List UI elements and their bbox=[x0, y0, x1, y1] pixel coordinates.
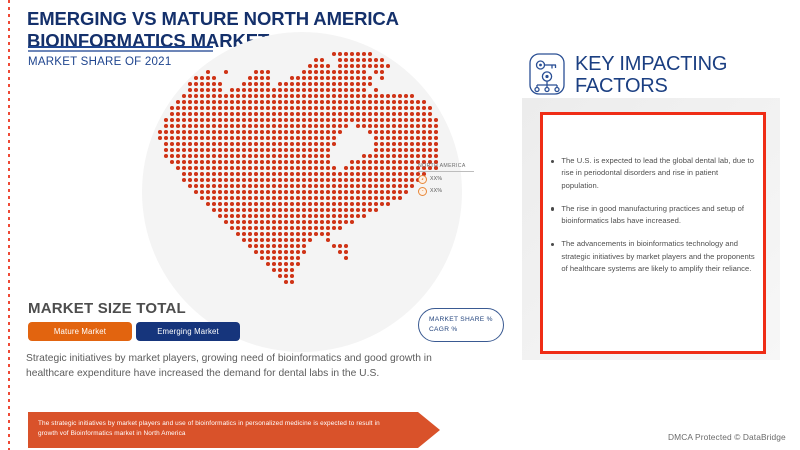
kif-title-line-1: KEY IMPACTING bbox=[575, 53, 727, 75]
pill-line-cagr: CAGR % bbox=[429, 325, 503, 335]
bullet-dot-icon bbox=[551, 207, 554, 210]
key-factors-bullet-list: The U.S. is expected to lead the global … bbox=[551, 155, 757, 286]
list-item: The advancements in bioinformatics techn… bbox=[551, 238, 757, 275]
map-legend: NORTH AMERICA ◕ XX% ◔ XX% bbox=[418, 163, 498, 196]
legend-row: ◕ XX% bbox=[418, 175, 498, 184]
market-share-icon: ◕ bbox=[418, 175, 427, 184]
emerging-market-button[interactable]: Emerging Market bbox=[136, 322, 240, 341]
summary-paragraph: Strategic initiatives by market players,… bbox=[26, 351, 482, 381]
list-item-text: The advancements in bioinformatics techn… bbox=[561, 238, 757, 275]
list-item: The rise in good manufacturing practices… bbox=[551, 203, 757, 228]
legend-row: ◔ XX% bbox=[418, 187, 498, 196]
pill-line-market-share: MARKET SHARE % bbox=[429, 315, 503, 325]
key-impacting-factors-header: KEY IMPACTING FACTORS bbox=[528, 52, 727, 98]
legend-title: NORTH AMERICA bbox=[418, 163, 474, 172]
left-dotted-divider bbox=[8, 0, 10, 450]
bullet-dot-icon bbox=[551, 160, 554, 163]
dmca-attribution: DMCA Protected © DataBridge bbox=[668, 432, 786, 442]
market-share-cagr-pill: MARKET SHARE % CAGR % bbox=[418, 308, 504, 342]
kif-title-line-2: FACTORS bbox=[575, 75, 727, 97]
list-item-text: The rise in good manufacturing practices… bbox=[561, 203, 757, 228]
legend-value: XX% bbox=[430, 188, 442, 194]
list-item: The U.S. is expected to lead the global … bbox=[551, 155, 757, 192]
key-impacting-factors-title: KEY IMPACTING FACTORS bbox=[575, 52, 727, 98]
mature-market-button[interactable]: Mature Market bbox=[28, 322, 132, 341]
legend-value: XX% bbox=[430, 176, 442, 182]
cagr-icon: ◔ bbox=[418, 187, 427, 196]
market-size-total-heading: MARKET SIZE TOTAL bbox=[28, 300, 186, 317]
banner-text: The strategic initiatives by market play… bbox=[38, 419, 398, 440]
bullet-dot-icon bbox=[551, 243, 554, 246]
infographic-root: EMERGING VS MATURE NORTH AMERICA BIOINFO… bbox=[0, 0, 800, 450]
key-network-icon bbox=[528, 52, 566, 96]
list-item-text: The U.S. is expected to lead the global … bbox=[561, 155, 757, 192]
highlight-banner: The strategic initiatives by market play… bbox=[28, 412, 440, 448]
north-america-dot-map bbox=[142, 32, 462, 352]
